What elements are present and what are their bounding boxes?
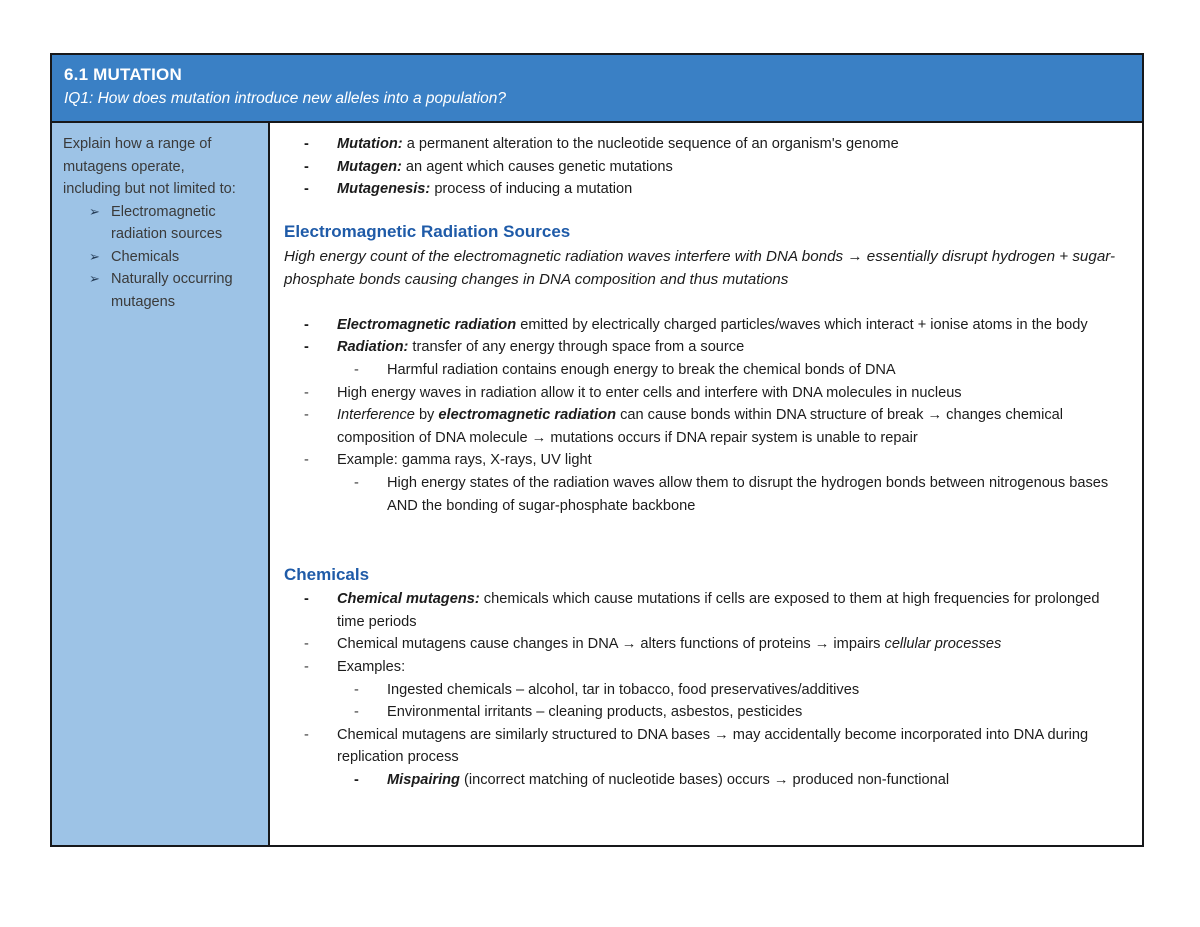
table-body-row: Explain how a range of mutagens operate,… xyxy=(52,123,1142,845)
list-item: - Mutation: a permanent alteration to th… xyxy=(284,133,1128,156)
list-item: - Electromagnetic radiation emitted by e… xyxy=(284,314,1128,337)
bullet-text: Chemical mutagens cause changes in DNA →… xyxy=(337,633,1128,656)
dash-bullet-icon: - xyxy=(304,314,337,337)
definition-term: Mutagenesis: xyxy=(337,181,430,197)
definition-text: Mutagenesis: process of inducing a mutat… xyxy=(337,178,1128,201)
electromagnetic-bullet-list: - Electromagnetic radiation emitted by e… xyxy=(284,314,1128,517)
syllabus-intro-line-1: Explain how a range of xyxy=(63,133,260,156)
bullet-emphasis: Interference xyxy=(337,407,415,423)
bullet-text: Environmental irritants – cleaning produ… xyxy=(387,701,1128,724)
bullet-text: Example: gamma rays, X-rays, UV light xyxy=(337,449,1128,472)
dash-bullet-icon: - xyxy=(354,472,387,495)
dash-bullet-icon: - xyxy=(304,133,337,156)
syllabus-intro-line-3: including but not limited to: xyxy=(63,178,260,201)
list-item: ➢ Chemicals xyxy=(63,246,260,269)
bullet-term: Mispairing xyxy=(387,772,460,788)
list-item: - High energy states of the radiation wa… xyxy=(284,472,1128,517)
section-lead-paragraph-electromagnetic: High energy count of the electromagnetic… xyxy=(284,245,1128,292)
dash-bullet-icon: - xyxy=(304,588,337,611)
bullet-text: Interference by electromagnetic radiatio… xyxy=(337,404,1128,449)
list-item: - Chemical mutagens are similarly struct… xyxy=(284,724,1128,769)
dash-bullet-icon: - xyxy=(304,178,337,201)
list-item: - Example: gamma rays, X-rays, UV light xyxy=(284,449,1128,472)
notes-content-column: - Mutation: a permanent alteration to th… xyxy=(270,123,1142,845)
table-header-row: 6.1 MUTATION IQ1: How does mutation intr… xyxy=(52,55,1142,123)
bullet-text: Harmful radiation contains enough energy… xyxy=(387,359,1128,382)
dash-bullet-icon: - xyxy=(304,724,337,747)
document-page: 6.1 MUTATION IQ1: How does mutation intr… xyxy=(0,0,1200,927)
list-item: ➢ Naturally occurring mutagens xyxy=(63,268,260,313)
bullet-text: Mispairing (incorrect matching of nucleo… xyxy=(387,769,1128,792)
bullet-body: transfer of any energy through space fro… xyxy=(408,339,744,355)
arrow-bullet-icon: ➢ xyxy=(89,201,111,224)
list-item: - Chemical mutagens: chemicals which cau… xyxy=(284,588,1128,633)
bullet-body: (incorrect matching of nucleotide bases)… xyxy=(460,772,949,788)
bullet-body: emitted by electrically charged particle… xyxy=(516,317,1087,333)
definition-text: Mutagen: an agent which causes genetic m… xyxy=(337,156,1128,179)
list-item: - Environmental irritants – cleaning pro… xyxy=(284,701,1128,724)
section-spacer xyxy=(284,517,1128,563)
definitions-list: - Mutation: a permanent alteration to th… xyxy=(284,133,1128,201)
syllabus-item-label: Chemicals xyxy=(111,246,260,269)
dash-bullet-icon: - xyxy=(304,449,337,472)
list-item: - Radiation: transfer of any energy thro… xyxy=(284,336,1128,359)
page-title: 6.1 MUTATION xyxy=(64,64,1130,85)
dash-bullet-icon: - xyxy=(354,679,387,702)
bullet-text: High energy states of the radiation wave… xyxy=(387,472,1128,517)
syllabus-column: Explain how a range of mutagens operate,… xyxy=(52,123,270,845)
definition-term: Mutagen: xyxy=(337,159,402,175)
bullet-text: Examples: xyxy=(337,656,1128,679)
definition-text: Mutation: a permanent alteration to the … xyxy=(337,133,1128,156)
bullet-emphasis: cellular processes xyxy=(885,636,1002,652)
list-item: - Chemical mutagens cause changes in DNA… xyxy=(284,633,1128,656)
bullet-text: Chemical mutagens are similarly structur… xyxy=(337,724,1128,769)
dash-bullet-icon: - xyxy=(304,336,337,359)
definition-body: a permanent alteration to the nucleotide… xyxy=(403,136,899,152)
dash-bullet-icon: - xyxy=(354,359,387,382)
bullet-text: High energy waves in radiation allow it … xyxy=(337,382,1128,405)
bullet-text: Ingested chemicals – alcohol, tar in tob… xyxy=(387,679,1128,702)
list-item: - Ingested chemicals – alcohol, tar in t… xyxy=(284,679,1128,702)
dash-bullet-icon: - xyxy=(304,382,337,405)
definition-body: an agent which causes genetic mutations xyxy=(402,159,673,175)
bullet-text: Chemical mutagens: chemicals which cause… xyxy=(337,588,1128,633)
bullet-body: Chemical mutagens cause changes in DNA →… xyxy=(337,636,885,652)
bullet-connector: by xyxy=(415,407,439,423)
dash-bullet-icon: - xyxy=(354,701,387,724)
definition-body: process of inducing a mutation xyxy=(430,181,632,197)
dash-bullet-icon: - xyxy=(304,633,337,656)
definition-term: Mutation: xyxy=(337,136,403,152)
syllabus-item-label: Electromagnetic radiation sources xyxy=(111,201,260,246)
list-item: - Examples: xyxy=(284,656,1128,679)
section-heading-electromagnetic: Electromagnetic Radiation Sources xyxy=(284,220,1128,244)
dash-bullet-icon: - xyxy=(304,404,337,427)
syllabus-intro-line-2: mutagens operate, xyxy=(63,156,260,179)
list-item: - Interference by electromagnetic radiat… xyxy=(284,404,1128,449)
dash-bullet-icon: - xyxy=(304,156,337,179)
bullet-text: Electromagnetic radiation emitted by ele… xyxy=(337,314,1128,337)
bullet-term: electromagnetic radiation xyxy=(438,407,616,423)
list-item: - High energy waves in radiation allow i… xyxy=(284,382,1128,405)
dash-bullet-icon: - xyxy=(304,656,337,679)
bullet-term: Chemical mutagens: xyxy=(337,591,480,607)
arrow-bullet-icon: ➢ xyxy=(89,246,111,269)
list-item: - Mutagenesis: process of inducing a mut… xyxy=(284,178,1128,201)
syllabus-item-label: Naturally occurring mutagens xyxy=(111,268,260,313)
list-item: ➢ Electromagnetic radiation sources xyxy=(63,201,260,246)
section-heading-chemicals: Chemicals xyxy=(284,563,1128,587)
list-item: - Harmful radiation contains enough ener… xyxy=(284,359,1128,382)
inquiry-question: IQ1: How does mutation introduce new all… xyxy=(64,88,1130,110)
bullet-term: Radiation: xyxy=(337,339,408,355)
list-item: - Mispairing (incorrect matching of nucl… xyxy=(284,769,1128,792)
paragraph-spacer xyxy=(284,292,1128,314)
notes-table: 6.1 MUTATION IQ1: How does mutation intr… xyxy=(50,53,1144,847)
bullet-text: Radiation: transfer of any energy throug… xyxy=(337,336,1128,359)
dash-bullet-icon: - xyxy=(354,769,387,792)
syllabus-bullet-list: ➢ Electromagnetic radiation sources ➢ Ch… xyxy=(63,201,260,314)
arrow-bullet-icon: ➢ xyxy=(89,268,111,291)
chemicals-bullet-list: - Chemical mutagens: chemicals which cau… xyxy=(284,588,1128,791)
list-item: - Mutagen: an agent which causes genetic… xyxy=(284,156,1128,179)
bullet-term: Electromagnetic radiation xyxy=(337,317,516,333)
